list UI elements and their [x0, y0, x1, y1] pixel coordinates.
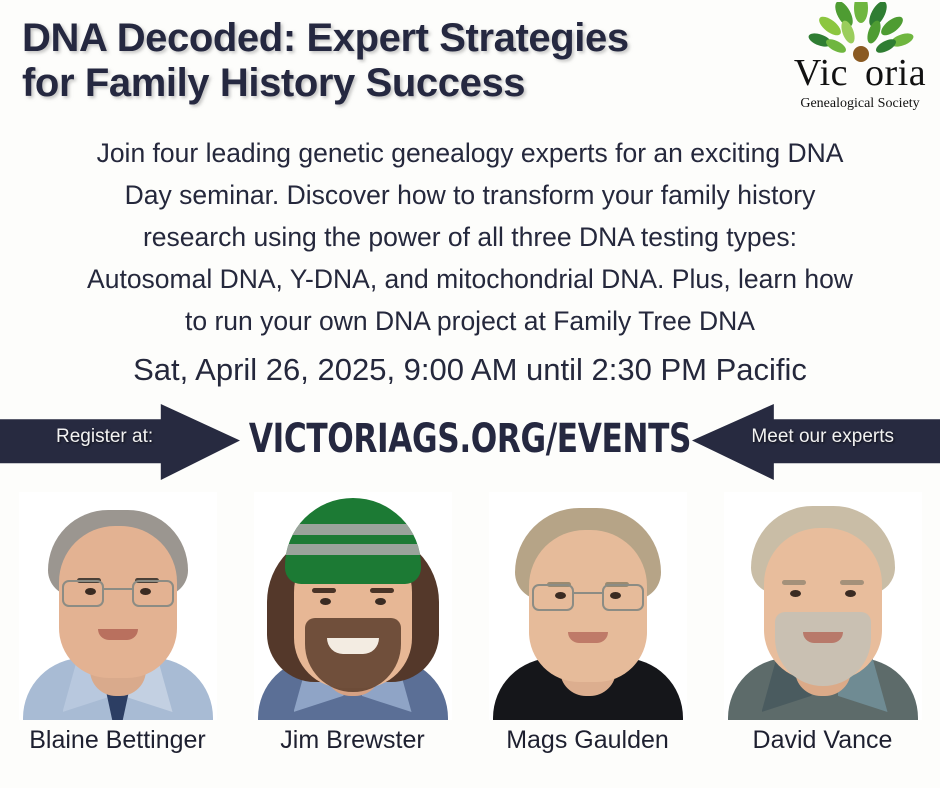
portrait-blaine-bettinger — [19, 492, 217, 720]
green-knit-hat — [285, 498, 421, 584]
presenter-card: David Vance — [715, 492, 930, 755]
blurb-line-1: Join four leading genetic genealogy expe… — [0, 132, 940, 174]
title-line-2: for Family History Success — [22, 61, 782, 106]
presenter-name: Jim Brewster — [280, 726, 424, 755]
portrait-david-vance — [724, 492, 922, 720]
registration-url[interactable]: VICTORIAGS.ORG/EVENTS — [103, 415, 836, 463]
portrait-jim-brewster — [254, 492, 452, 720]
blurb-line-5: to run your own DNA project at Family Tr… — [0, 300, 940, 342]
presenter-name: Mags Gaulden — [506, 726, 669, 755]
page-title: DNA Decoded: Expert Strategies for Famil… — [22, 16, 782, 106]
logo-wordmark: Vicoria — [784, 54, 936, 92]
header: DNA Decoded: Expert Strategies for Famil… — [0, 0, 940, 122]
portrait-mags-gaulden — [489, 492, 687, 720]
blurb-line-4: Autosomal DNA, Y-DNA, and mitochondrial … — [0, 258, 940, 300]
blurb-line-3: research using the power of all three DN… — [0, 216, 940, 258]
event-datetime: Sat, April 26, 2025, 9:00 AM until 2:30 … — [0, 352, 940, 388]
presenter-name: Blaine Bettinger — [29, 726, 206, 755]
victoria-genealogical-society-logo: Vicoria Genealogical Society — [784, 2, 936, 116]
presenters-row: Blaine Bettinger Jim Brewster — [0, 492, 940, 782]
logo-subtitle: Genealogical Society — [784, 96, 936, 112]
presenter-name: David Vance — [753, 726, 893, 755]
blurb-line-2: Day seminar. Discover how to transform y… — [0, 174, 940, 216]
event-description: Join four leading genetic genealogy expe… — [0, 132, 940, 342]
title-line-1: DNA Decoded: Expert Strategies — [22, 16, 782, 61]
presenter-card: Blaine Bettinger — [10, 492, 225, 755]
presenter-card: Jim Brewster — [245, 492, 460, 755]
presenter-card: Mags Gaulden — [480, 492, 695, 755]
